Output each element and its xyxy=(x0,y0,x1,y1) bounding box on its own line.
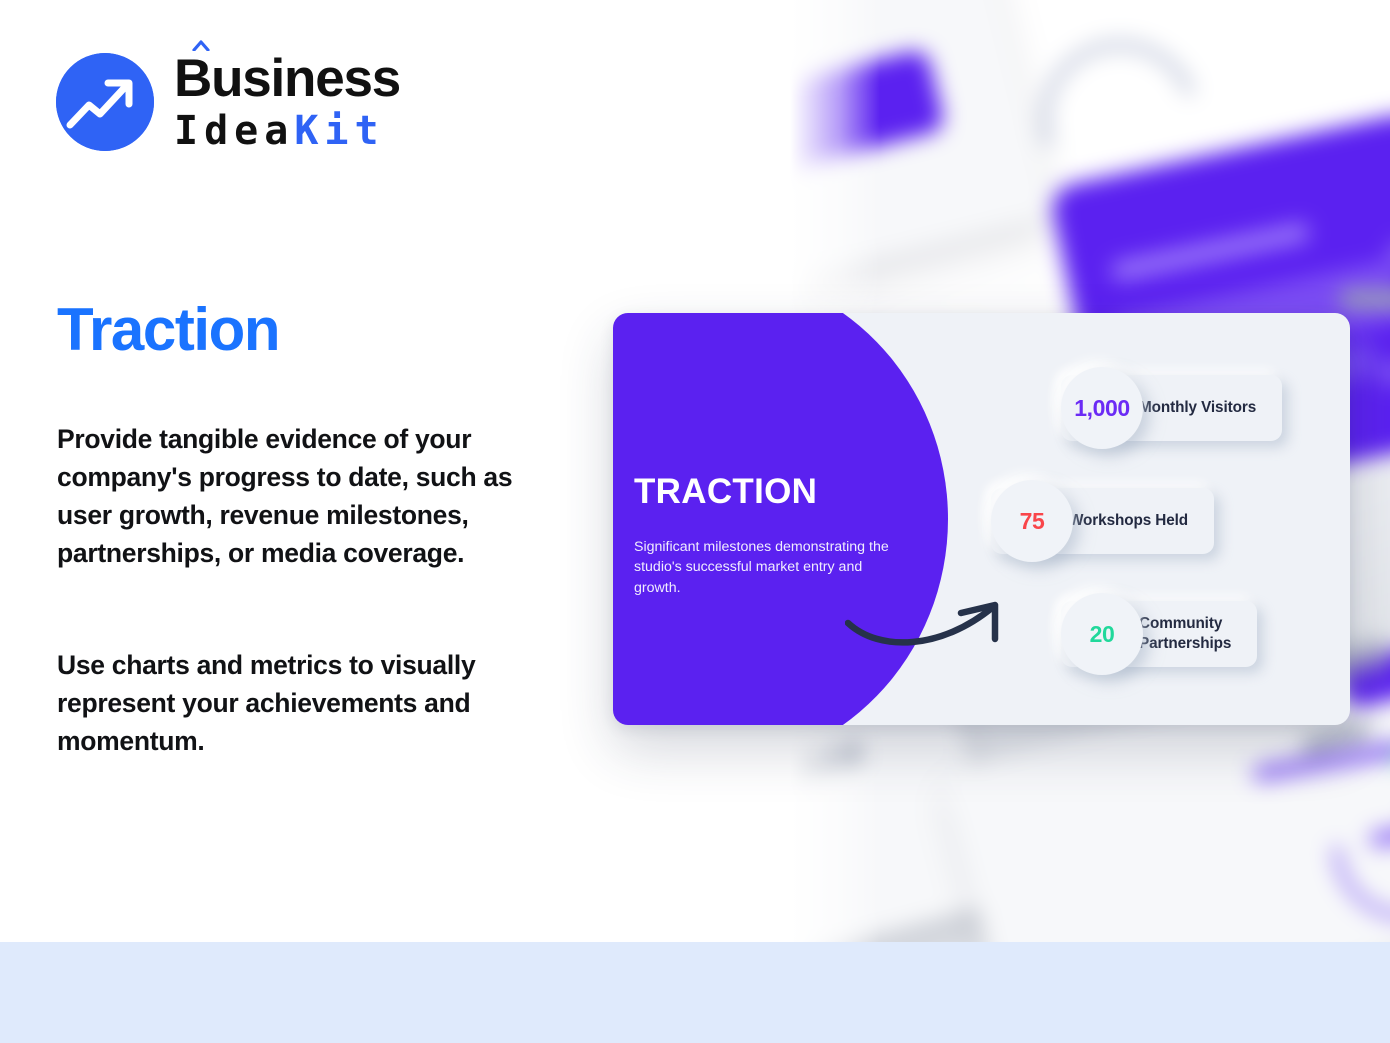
brand-name-idea: Idea xyxy=(174,108,294,154)
page-title: Traction xyxy=(57,295,279,364)
brand-name-line1: Business xyxy=(174,52,400,105)
metric-value: 20 xyxy=(1090,621,1115,648)
body-paragraph-1: Provide tangible evidence of your compan… xyxy=(57,420,567,573)
metric-value-circle: 20 xyxy=(1061,593,1143,675)
curved-up-right-arrow-icon xyxy=(845,595,1015,657)
background-text-block xyxy=(1340,290,1390,308)
body-paragraph-2: Use charts and metrics to visually repre… xyxy=(57,646,567,760)
metric-row[interactable]: Monthly Visitors 1,000 xyxy=(1061,367,1282,449)
metric-row[interactable]: Workshops Held 75 xyxy=(991,480,1214,562)
metric-value: 1,000 xyxy=(1074,395,1130,422)
metric-label: Workshops Held xyxy=(1069,511,1188,531)
brand-name-line2: IdeaKit xyxy=(174,111,400,151)
metric-value: 75 xyxy=(1020,508,1045,535)
metric-value-circle: 1,000 xyxy=(1061,367,1143,449)
traction-card-subtitle: Significant milestones demonstrating the… xyxy=(634,537,896,598)
purple-blob-shape xyxy=(613,313,948,725)
brand-name-kit: Kit xyxy=(294,108,384,154)
circumflex-accent-icon xyxy=(192,39,210,50)
brand-wordmark: Business IdeaKit xyxy=(174,52,400,151)
metric-label: Monthly Visitors xyxy=(1139,398,1256,418)
metric-row[interactable]: Community Partnerships 20 xyxy=(1061,593,1257,675)
traction-slide-card[interactable]: TRACTION Significant milestones demonstr… xyxy=(613,313,1350,725)
growth-chart-circle-icon xyxy=(56,53,154,151)
footer-band xyxy=(0,942,1390,1043)
traction-card-title: TRACTION xyxy=(634,472,817,512)
metric-label: Community Partnerships xyxy=(1139,614,1231,653)
brand-logo: Business IdeaKit xyxy=(56,52,400,151)
slide-root: Business IdeaKit Traction Provide tangib… xyxy=(0,0,1390,1043)
metric-value-circle: 75 xyxy=(991,480,1073,562)
